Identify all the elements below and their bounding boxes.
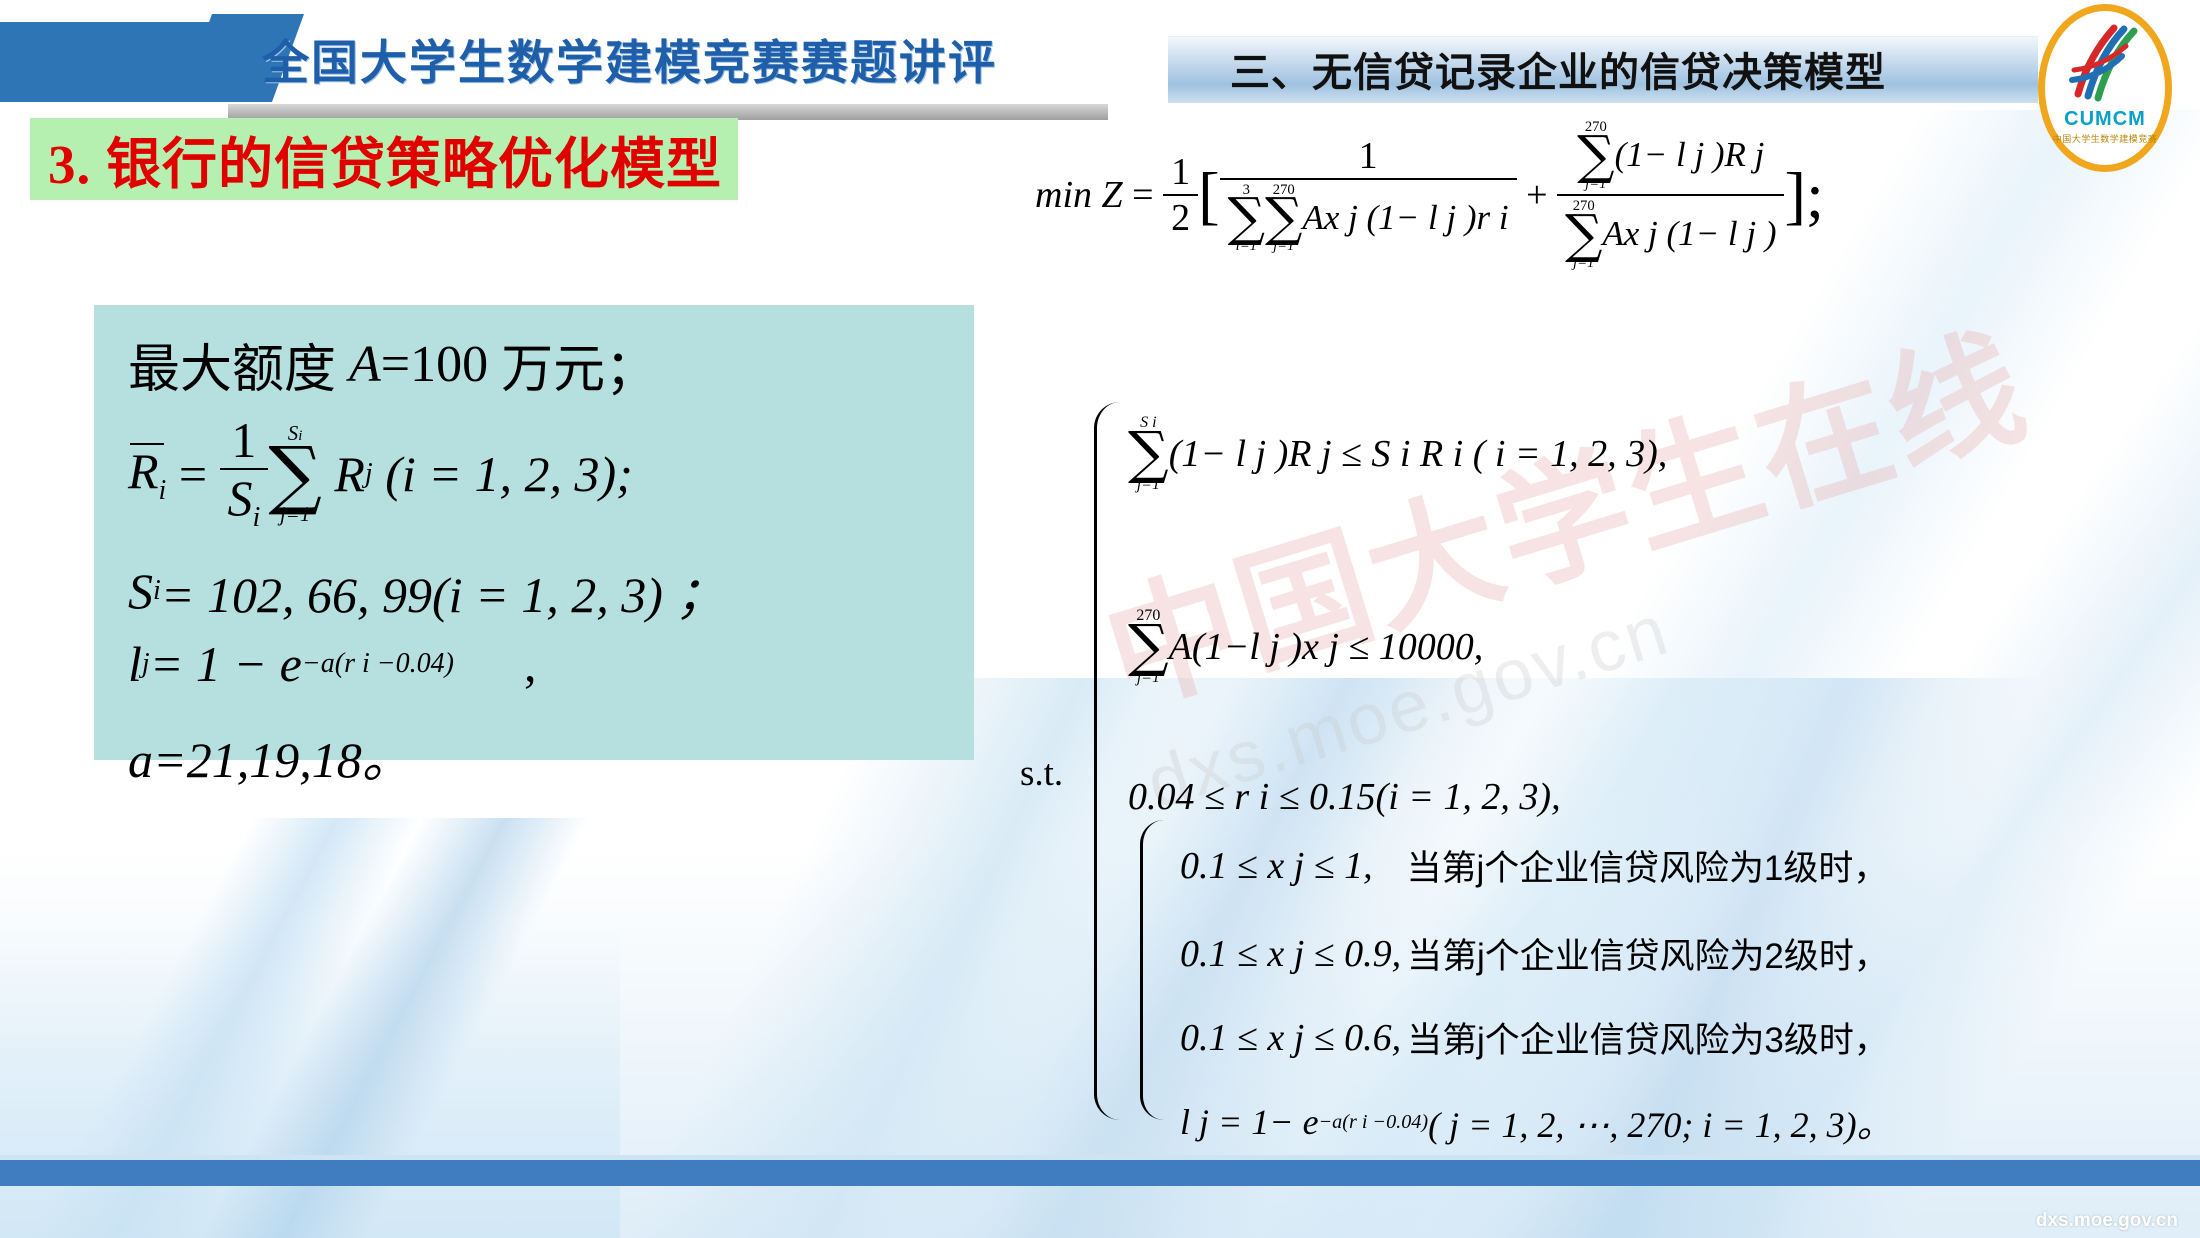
constraint1-body: (1− l j )R j ≤ S i R i ( i = 1, 2, 3), xyxy=(1169,432,1668,476)
loss-rate-var-sub: j xyxy=(142,648,150,680)
group-size-var-sub: i xyxy=(153,575,161,607)
param-max-credit-value: =100 xyxy=(381,335,488,394)
constraint-row: 0.1 ≤ x j ≤ 0.9, 当第j个企业信贷风险为2级时， xyxy=(1180,928,1889,979)
param-a-values: a=21,19,18。 xyxy=(128,720,412,792)
header-right-title: 三、无信贷记录企业的信贷决策模型 xyxy=(1230,36,2030,102)
constraint4-note: 当第j个企业信贷风险为1级时， xyxy=(1407,840,1889,891)
objective-term-two: 270 ∑ j=1 (1− l j )R j 270 ∑ j=1 Ax j (1… xyxy=(1557,120,1784,271)
loss-rate-var: l xyxy=(128,635,142,693)
param-a-values-line: a=21,19,18。 xyxy=(128,720,412,792)
group-size-values: = 102, 66, 99(i = 1, 2, 3) ； xyxy=(161,555,726,627)
mean-return-body: R xyxy=(334,445,365,503)
term-one-body: Ax j (1− l j )r i xyxy=(1302,201,1508,236)
section-title-banner: 3. 银行的信贷策略优化模型 xyxy=(30,118,738,200)
mean-return-frac-num: 1 xyxy=(223,415,264,468)
term-one-sum-j: 270 ∑ j=1 xyxy=(1265,183,1302,254)
den-sum-lower: j=1 xyxy=(1573,256,1594,271)
sigma-icon: ∑ xyxy=(268,444,322,504)
constraint7-tail: ( j = 1, 2, ⋯, 270; i = 1, 2, 3)。 xyxy=(1428,1096,1893,1148)
loss-rate-tail: , xyxy=(524,635,537,693)
footer-band xyxy=(0,1160,2200,1186)
constraint5-math: 0.1 ≤ x j ≤ 0.9, xyxy=(1180,932,1401,976)
param-max-credit-var: A xyxy=(349,335,381,394)
constraint7-math: l j = 1− e xyxy=(1180,1101,1319,1143)
constraint1-sum: S i ∑ j=1 xyxy=(1128,415,1169,493)
param-group-sizes-line: Si = 102, 66, 99(i = 1, 2, 3) ； xyxy=(128,555,725,627)
param-mean-return-formula: Ri = 1 Si Si ∑ j=1 Rj (i = 1, 2, 3); xyxy=(128,415,633,532)
objective-equals: = xyxy=(1132,173,1153,217)
objective-open-bracket: [ xyxy=(1198,158,1220,233)
slide-canvas: 全国大学生数学建模竞赛赛题讲评 三、无信贷记录企业的信贷决策模型 CUMCM 中… xyxy=(0,0,2200,1238)
logo-wordmark: CUMCM xyxy=(2038,108,2172,131)
objective-plus: + xyxy=(1526,173,1547,217)
slide-header: 全国大学生数学建模竞赛赛题讲评 三、无信贷记录企业的信贷决策模型 CUMCM 中… xyxy=(0,0,2200,118)
term-two-den-sum: 270 ∑ j=1 xyxy=(1565,199,1602,270)
term-one-numerator: 1 xyxy=(1351,137,1386,178)
constraint-row: l j = 1− e −a(r i −0.04) ( j = 1, 2, ⋯, … xyxy=(1180,1096,1893,1148)
mean-return-tail: (i = 1, 2, 3); xyxy=(385,445,633,503)
objective-one-half: 1 2 xyxy=(1163,153,1198,237)
objective-term-one: 1 3 ∑ i=1 270 ∑ j=1 Ax j (1− l j )r i xyxy=(1220,137,1517,254)
param-max-credit-unit: 万元； xyxy=(501,327,657,402)
constraint2-sum: 270 ∑ j=1 xyxy=(1128,608,1169,686)
constraint-row: 0.04 ≤ r i ≤ 0.15(i = 1, 2, 3), xyxy=(1128,775,1561,819)
mean-return-var: R xyxy=(128,443,159,499)
param-max-credit-line: 最大额度 A =100 万元； xyxy=(128,327,657,402)
param-loss-rate-line: lj = 1 − e −a(r i −0.04) , xyxy=(128,635,537,693)
term-one-sum-i: 3 ∑ i=1 xyxy=(1228,183,1265,254)
sigma-icon: ∑ xyxy=(1565,214,1602,256)
mean-return-frac-den-sub: i xyxy=(253,502,261,533)
subject-to-label: s.t. xyxy=(1020,752,1063,795)
mean-return-sum-lower: j=1 xyxy=(280,504,311,525)
footer-url: dxs.moe.gov.cn xyxy=(2036,1210,2178,1232)
mean-return-fraction: 1 Si xyxy=(220,415,269,532)
constraint2-sum-lower: j=1 xyxy=(1137,670,1160,686)
constraint5-note: 当第j个企业信贷风险为2级时， xyxy=(1407,928,1889,979)
constraint1-sum-lower: j=1 xyxy=(1137,477,1160,493)
loss-rate-body: = 1 − e xyxy=(150,635,302,693)
constraint6-note: 当第j个企业信贷风险为3级时， xyxy=(1407,1012,1889,1063)
constraint7-exponent: −a(r i −0.04) xyxy=(1319,1111,1429,1134)
mean-return-body-sub: j xyxy=(365,458,373,490)
constraint6-math: 0.1 ≤ x j ≤ 0.6, xyxy=(1180,1016,1401,1060)
sigma-icon: ∑ xyxy=(1265,197,1302,239)
cumcm-logo: CUMCM 中国大学生数学建模竞赛 xyxy=(2038,4,2172,172)
parameters-panel: 最大额度 A =100 万元； Ri = 1 Si Si xyxy=(94,305,974,760)
logo-ribbon-icon xyxy=(2064,20,2148,106)
mean-return-var-sub: i xyxy=(159,475,167,506)
objective-close-bracket: ]; xyxy=(1784,158,1823,233)
one-half-num: 1 xyxy=(1163,153,1198,194)
loss-rate-exponent: −a(r i −0.04) xyxy=(302,648,454,680)
sum-j-lower: j=1 xyxy=(1273,239,1294,254)
term-two-num-sum: 270 ∑ j=1 xyxy=(1577,120,1614,191)
term-two-den-body: Ax j (1− l j ) xyxy=(1602,217,1776,252)
constraint4-math: 0.1 ≤ x j ≤ 1, xyxy=(1180,844,1373,888)
sum-i-lower: i=1 xyxy=(1236,239,1257,254)
objective-label: min Z xyxy=(1035,173,1123,217)
param-max-credit-prefix: 最大额度 xyxy=(128,327,336,402)
one-half-den: 2 xyxy=(1163,194,1198,237)
constraint-row: 0.1 ≤ x j ≤ 1, 当第j个企业信贷风险为1级时， xyxy=(1180,840,1888,891)
constraint2-body: A(1−l j )x j ≤ 10000, xyxy=(1169,625,1484,669)
header-left-title: 全国大学生数学建模竞赛赛题讲评 xyxy=(262,24,997,93)
constraint-row: S i ∑ j=1 (1− l j )R j ≤ S i R i ( i = 1… xyxy=(1128,415,1667,493)
sigma-icon: ∑ xyxy=(1228,197,1265,239)
constraints-inner-brace xyxy=(1140,820,1167,1120)
header-accent-block xyxy=(0,22,215,102)
sigma-icon: ∑ xyxy=(1128,431,1169,477)
constraints-outer-brace xyxy=(1094,402,1123,1120)
mean-return-summation: Si ∑ j=1 xyxy=(268,423,322,525)
group-size-var: S xyxy=(128,562,153,620)
section-title-text: 3. 银行的信贷策略优化模型 xyxy=(48,119,722,199)
constraint-row: 270 ∑ j=1 A(1−l j )x j ≤ 10000, xyxy=(1128,608,1483,686)
objective-function: min Z = 1 2 [ 1 3 ∑ i=1 270 ∑ j=1 xyxy=(1035,120,1824,271)
constraint-row: 0.1 ≤ x j ≤ 0.6, 当第j个企业信贷风险为3级时， xyxy=(1180,1012,1889,1063)
num-sum-lower: j=1 xyxy=(1585,177,1606,192)
constraint3-body: 0.04 ≤ r i ≤ 0.15(i = 1, 2, 3), xyxy=(1128,775,1561,819)
mean-return-frac-den: S xyxy=(228,470,253,526)
logo-subtext: 中国大学生数学建模竞赛 xyxy=(2038,132,2172,145)
sigma-icon: ∑ xyxy=(1128,624,1169,670)
term-two-num-body: (1− l j )R j xyxy=(1615,138,1765,173)
sigma-icon: ∑ xyxy=(1577,135,1614,177)
